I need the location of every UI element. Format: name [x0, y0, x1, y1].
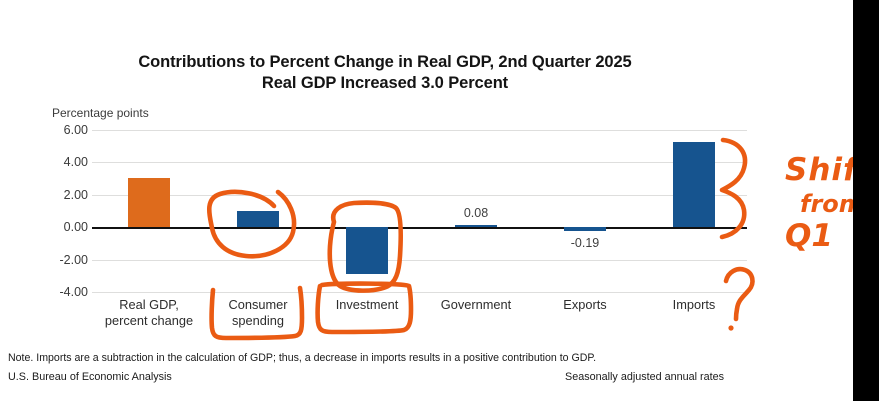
y-tick-label: 4.00	[64, 155, 88, 169]
data-label-exports: -0.19	[571, 236, 600, 250]
footnote-source: U.S. Bureau of Economic Analysis	[8, 371, 172, 383]
gridline	[92, 130, 747, 131]
x-label-line: Government	[441, 297, 511, 313]
y-tick-label: -2.00	[60, 253, 89, 267]
x-label-line: Exports	[563, 297, 606, 313]
x-label-government: Government	[441, 297, 511, 313]
x-label-line: Imports	[673, 297, 716, 313]
bar-real-gdp[interactable]	[128, 178, 170, 227]
bar-investment[interactable]	[346, 227, 388, 274]
x-label-investment: Investment	[336, 297, 399, 313]
bar-consumer-spending[interactable]	[237, 211, 279, 227]
x-label-line: Real GDP,	[105, 297, 193, 313]
bar-imports[interactable]	[673, 142, 715, 226]
gridline	[92, 260, 747, 261]
gridline	[92, 195, 747, 196]
y-axis-labels: 6.00 4.00 2.00 0.00 -2.00 -4.00	[36, 130, 88, 292]
x-label-line: spending	[228, 313, 287, 329]
y-tick-label: 0.00	[64, 220, 88, 234]
x-axis-labels: Real GDP, percent change Consumer spendi…	[92, 297, 747, 343]
x-label-line: Investment	[336, 297, 399, 313]
x-label-line: percent change	[105, 313, 193, 329]
x-label-imports: Imports	[673, 297, 716, 313]
plot-area: 0.08 -0.19	[92, 130, 747, 292]
chart-canvas: Contributions to Percent Change in Real …	[0, 0, 879, 401]
footnote-note: Note. Imports are a subtraction in the c…	[8, 352, 596, 364]
gridline	[92, 162, 747, 163]
y-tick-label: 2.00	[64, 188, 88, 202]
page-title: Contributions to Percent Change in Real …	[0, 52, 770, 73]
zero-axis-line	[92, 227, 747, 229]
right-edge-black-band	[853, 0, 879, 401]
x-label-real-gdp: Real GDP, percent change	[105, 297, 193, 329]
gridline	[92, 292, 747, 293]
y-tick-label: 6.00	[64, 123, 88, 137]
handwritten-q1-text: Q1	[785, 218, 833, 254]
bar-exports[interactable]	[564, 227, 606, 230]
x-label-exports: Exports	[563, 297, 606, 313]
x-label-line: Consumer	[228, 297, 287, 313]
footnote-rates: Seasonally adjusted annual rates	[565, 371, 724, 383]
chart-subtitle: Real GDP Increased 3.0 Percent	[0, 73, 770, 94]
y-tick-label: -4.00	[60, 285, 89, 299]
chart-title-block: Contributions to Percent Change in Real …	[0, 52, 770, 94]
x-label-consumer-spending: Consumer spending	[228, 297, 287, 329]
y-axis-unit-label: Percentage points	[52, 106, 149, 120]
bar-government[interactable]	[455, 225, 497, 227]
data-label-government: 0.08	[464, 206, 488, 220]
